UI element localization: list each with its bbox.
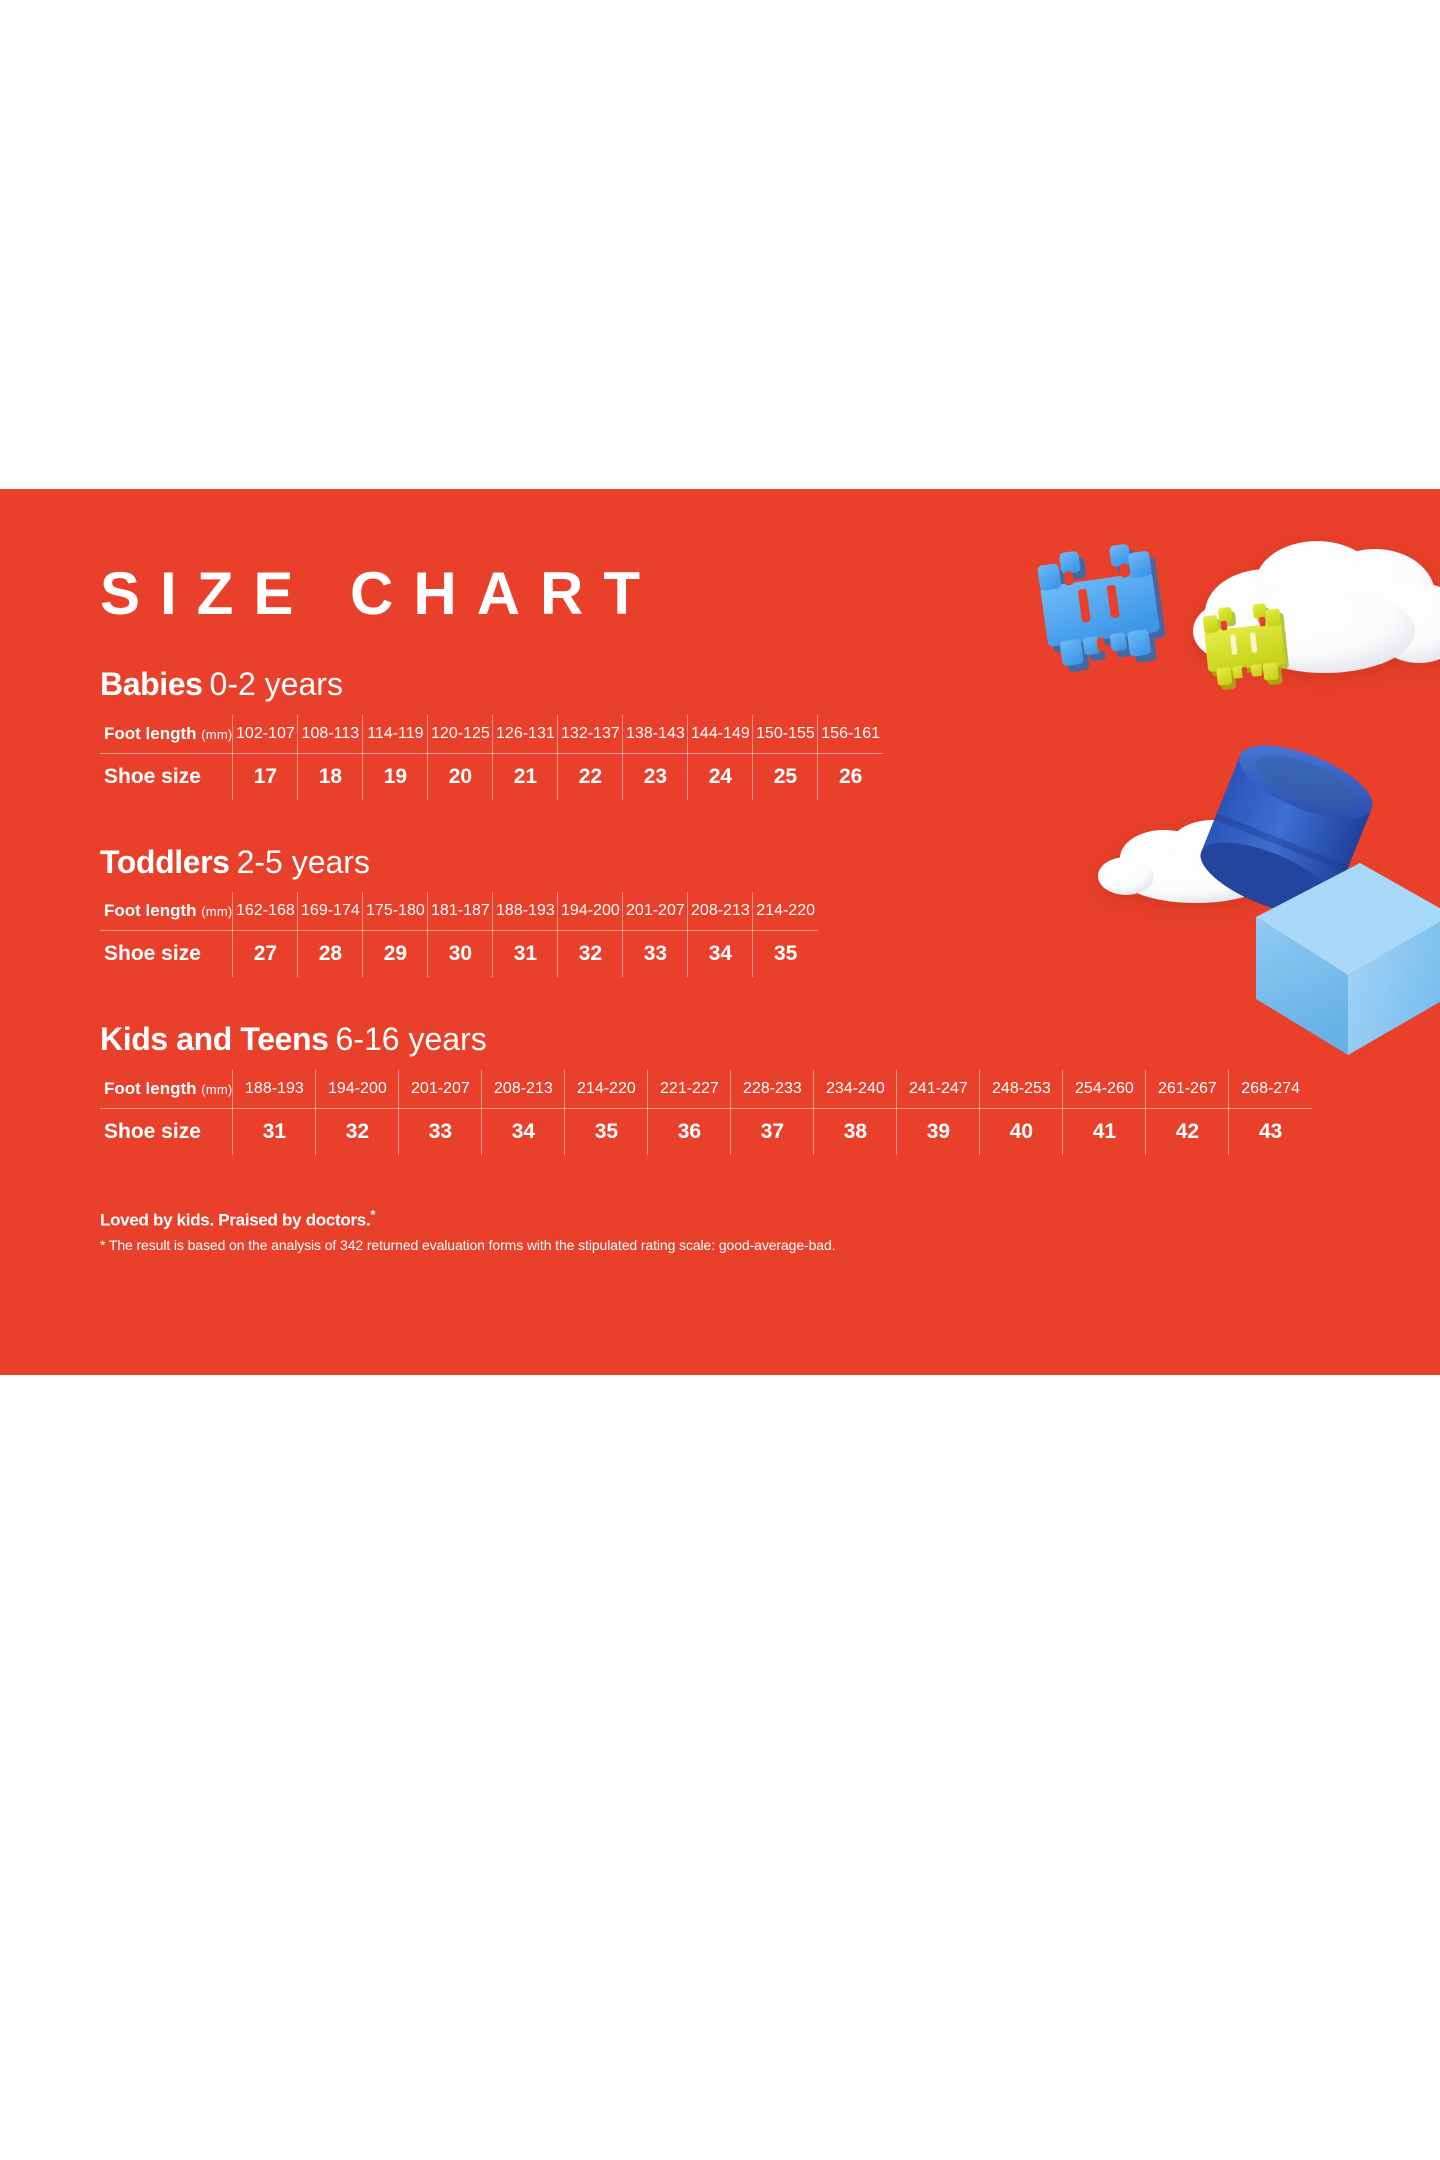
- table-cell: 43: [1229, 1108, 1312, 1155]
- table-cell: 120-125: [428, 715, 493, 754]
- page-title: SIZE CHART: [100, 564, 1340, 624]
- size-table-babies: Foot length (mm) 102-107 108-113 114-119…: [100, 715, 883, 800]
- table-cell: 32: [558, 931, 623, 978]
- table-cell: 194-200: [558, 892, 623, 931]
- table-row-foot-length: Foot length (mm) 188-193 194-200 201-207…: [100, 1070, 1312, 1109]
- section-age-range: 2-5 years: [237, 844, 370, 880]
- table-cell: 261-267: [1146, 1070, 1229, 1109]
- row-label-text: Foot length: [104, 1079, 197, 1098]
- footer-tagline: Loved by kids. Praised by doctors.*: [100, 1207, 1340, 1231]
- table-cell: 228-233: [731, 1070, 814, 1109]
- table-cell: 18: [298, 753, 363, 800]
- table-cell: 221-227: [648, 1070, 731, 1109]
- table-cell: 126-131: [493, 715, 558, 754]
- row-label-text: Foot length: [104, 901, 197, 920]
- table-cell: 33: [623, 931, 688, 978]
- table-cell: 108-113: [298, 715, 363, 754]
- table-cell: 17: [233, 753, 298, 800]
- table-cell: 208-213: [688, 892, 753, 931]
- table-cell: 35: [753, 931, 818, 978]
- row-label-shoe-size: Shoe size: [100, 753, 233, 800]
- table-cell: 22: [558, 753, 623, 800]
- table-cell: 175-180: [363, 892, 428, 931]
- table-cell: 26: [818, 753, 883, 800]
- footer-tagline-text: Loved by kids. Praised by doctors.: [100, 1210, 370, 1229]
- table-cell: 32: [316, 1108, 399, 1155]
- table-cell: 21: [493, 753, 558, 800]
- section-age-range: 0-2 years: [210, 666, 343, 702]
- table-cell: 214-220: [753, 892, 818, 931]
- table-cell: 254-260: [1063, 1070, 1146, 1109]
- table-cell: 30: [428, 931, 493, 978]
- row-label-shoe-size: Shoe size: [100, 931, 233, 978]
- table-cell: 188-193: [233, 1070, 316, 1109]
- table-cell: 42: [1146, 1108, 1229, 1155]
- table-cell: 162-168: [233, 892, 298, 931]
- section-heading-toddlers: Toddlers2-5 years: [100, 846, 1340, 880]
- table-cell: 36: [648, 1108, 731, 1155]
- row-label-unit: (mm): [201, 727, 232, 742]
- size-chart-content: SIZE CHART Babies0-2 years Foot length (…: [100, 489, 1340, 1253]
- footer: Loved by kids. Praised by doctors.* * Th…: [100, 1207, 1340, 1254]
- table-cell: 31: [493, 931, 558, 978]
- section-name: Toddlers: [100, 844, 230, 880]
- footer-asterisk: *: [370, 1207, 375, 1222]
- table-cell: 169-174: [298, 892, 363, 931]
- table-cell: 28: [298, 931, 363, 978]
- table-cell: 27: [233, 931, 298, 978]
- table-row-shoe-size: Shoe size 17 18 19 20 21 22 23 24 25 26: [100, 753, 883, 800]
- table-cell: 23: [623, 753, 688, 800]
- row-label-foot-length: Foot length (mm): [100, 892, 233, 931]
- table-row-foot-length: Foot length (mm) 162-168 169-174 175-180…: [100, 892, 818, 931]
- table-cell: 194-200: [316, 1070, 399, 1109]
- table-cell: 268-274: [1229, 1070, 1312, 1109]
- row-label-text: Foot length: [104, 724, 197, 743]
- table-cell: 234-240: [814, 1070, 897, 1109]
- table-cell: 34: [688, 931, 753, 978]
- size-chart-panel: SIZE CHART Babies0-2 years Foot length (…: [0, 489, 1440, 1375]
- table-cell: 38: [814, 1108, 897, 1155]
- table-cell: 114-119: [363, 715, 428, 754]
- section-babies: Babies0-2 years Foot length (mm) 102-107…: [100, 668, 1340, 800]
- footer-note: * The result is based on the analysis of…: [100, 1237, 1340, 1253]
- table-cell: 19: [363, 753, 428, 800]
- table-cell: 29: [363, 931, 428, 978]
- section-age-range: 6-16 years: [336, 1021, 487, 1057]
- table-cell: 150-155: [753, 715, 818, 754]
- table-cell: 132-137: [558, 715, 623, 754]
- table-cell: 188-193: [493, 892, 558, 931]
- table-cell: 201-207: [623, 892, 688, 931]
- table-cell: 40: [980, 1108, 1063, 1155]
- table-cell: 20: [428, 753, 493, 800]
- table-cell: 34: [482, 1108, 565, 1155]
- table-cell: 37: [731, 1108, 814, 1155]
- size-table-kids-and-teens: Foot length (mm) 188-193 194-200 201-207…: [100, 1070, 1312, 1155]
- table-cell: 24: [688, 753, 753, 800]
- table-cell: 138-143: [623, 715, 688, 754]
- table-cell: 156-161: [818, 715, 883, 754]
- table-row-shoe-size: Shoe size 27 28 29 30 31 32 33 34 35: [100, 931, 818, 978]
- row-label-shoe-size: Shoe size: [100, 1108, 233, 1155]
- table-cell: 25: [753, 753, 818, 800]
- table-cell: 144-149: [688, 715, 753, 754]
- table-cell: 201-207: [399, 1070, 482, 1109]
- table-row-foot-length: Foot length (mm) 102-107 108-113 114-119…: [100, 715, 883, 754]
- table-cell: 241-247: [897, 1070, 980, 1109]
- table-cell: 33: [399, 1108, 482, 1155]
- section-heading-babies: Babies0-2 years: [100, 668, 1340, 702]
- section-name: Kids and Teens: [100, 1021, 329, 1057]
- size-table-toddlers: Foot length (mm) 162-168 169-174 175-180…: [100, 892, 818, 977]
- row-label-foot-length: Foot length (mm): [100, 715, 233, 754]
- section-toddlers: Toddlers2-5 years Foot length (mm) 162-1…: [100, 846, 1340, 978]
- table-cell: 31: [233, 1108, 316, 1155]
- table-row-shoe-size: Shoe size 31 32 33 34 35 36 37 38 39 40 …: [100, 1108, 1312, 1155]
- row-label-unit: (mm): [201, 1082, 232, 1097]
- table-cell: 181-187: [428, 892, 493, 931]
- section-name: Babies: [100, 666, 203, 702]
- table-cell: 214-220: [565, 1070, 648, 1109]
- table-cell: 208-213: [482, 1070, 565, 1109]
- row-label-foot-length: Foot length (mm): [100, 1070, 233, 1109]
- table-cell: 248-253: [980, 1070, 1063, 1109]
- section-kids-and-teens: Kids and Teens6-16 years Foot length (mm…: [100, 1023, 1340, 1155]
- row-label-unit: (mm): [201, 904, 232, 919]
- table-cell: 39: [897, 1108, 980, 1155]
- section-heading-kids-and-teens: Kids and Teens6-16 years: [100, 1023, 1340, 1057]
- table-cell: 35: [565, 1108, 648, 1155]
- table-cell: 41: [1063, 1108, 1146, 1155]
- table-cell: 102-107: [233, 715, 298, 754]
